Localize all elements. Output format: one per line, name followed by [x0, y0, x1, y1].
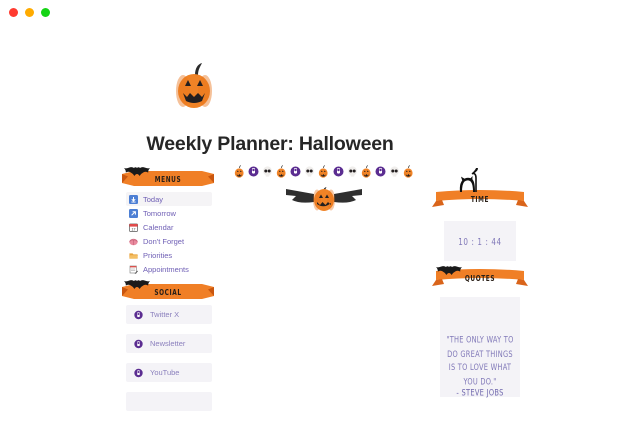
folder-icon: [129, 251, 138, 260]
social-item-youtube[interactable]: YouTube: [126, 363, 212, 382]
menus-list: Today Tomorrow 17 Calendar Don't For: [126, 192, 212, 276]
download-box-icon: [129, 195, 138, 204]
social-item-label: Twitter X: [150, 310, 179, 319]
menu-item-calendar[interactable]: 17 Calendar: [126, 220, 212, 234]
pumpkin-icon: [276, 165, 287, 178]
bat-icon: [124, 279, 150, 292]
ghost-icon: [134, 368, 143, 378]
time-banner: TIME: [438, 190, 522, 208]
garland-decoration: [234, 165, 414, 178]
menu-item-tomorrow[interactable]: Tomorrow: [126, 206, 212, 220]
menu-item-today[interactable]: Today: [126, 192, 212, 206]
notepad-icon: [129, 265, 138, 274]
pumpkin-icon: [403, 165, 414, 178]
menu-item-label: Don't Forget: [143, 237, 184, 246]
skull-icon: [389, 165, 400, 178]
menu-item-label: Appointments: [143, 265, 189, 274]
bat-icon: [436, 265, 462, 278]
jack-o-lantern-icon: [172, 63, 216, 109]
menu-item-dont-forget[interactable]: Don't Forget: [126, 234, 212, 248]
ghost-icon: [134, 310, 143, 320]
bat-icon: [124, 166, 150, 179]
social-item-newsletter[interactable]: Newsletter: [126, 334, 212, 353]
planner-page: Weekly Planner: Halloween: [0, 0, 640, 400]
ghost-icon: [134, 339, 143, 349]
time-card: 10 : 1 : 44: [444, 221, 516, 261]
pumpkin-icon: [361, 165, 372, 178]
social-list: Twitter X Newsletter YouTube: [126, 305, 212, 421]
page-title: Weekly Planner: Halloween: [0, 133, 540, 156]
ghost-icon: [333, 165, 344, 178]
minimize-button[interactable]: [25, 8, 34, 17]
window-controls: [9, 8, 50, 17]
quote-author: - STEVE JOBS: [446, 387, 514, 398]
social-item-label: YouTube: [150, 368, 179, 377]
ghost-icon: [290, 165, 301, 178]
maximize-button[interactable]: [41, 8, 50, 17]
black-cat-icon: [456, 168, 480, 194]
skull-icon: [347, 165, 358, 178]
skull-icon: [304, 165, 315, 178]
calendar-icon: 17: [129, 223, 138, 232]
svg-text:17: 17: [132, 227, 136, 231]
winged-pumpkin-icon: [286, 183, 362, 213]
quotes-card: "THE ONLY WAY TO DO GREAT THINGS IS TO L…: [440, 297, 520, 397]
time-value: 10 : 1 : 44: [444, 216, 516, 266]
brain-icon: [129, 237, 138, 246]
close-button[interactable]: [9, 8, 18, 17]
menu-item-label: Tomorrow: [143, 209, 176, 218]
pumpkin-icon: [234, 165, 245, 178]
social-item-partial[interactable]: [126, 392, 212, 411]
pumpkin-icon: [318, 165, 329, 178]
ghost-icon: [248, 165, 259, 178]
ghost-icon: [375, 165, 386, 178]
menu-item-label: Today: [143, 195, 163, 204]
menu-item-priorities[interactable]: Priorities: [126, 248, 212, 262]
menu-item-label: Priorities: [143, 251, 172, 260]
arrow-box-icon: [129, 209, 138, 218]
skull-icon: [262, 165, 273, 178]
menu-item-label: Calendar: [143, 223, 173, 232]
social-item-twitter-x[interactable]: Twitter X: [126, 305, 212, 324]
menu-item-appointments[interactable]: Appointments: [126, 262, 212, 276]
time-banner-label: TIME: [444, 190, 516, 208]
social-item-label: Newsletter: [150, 339, 185, 348]
quote-text: "THE ONLY WAY TO DO GREAT THINGS IS TO L…: [446, 333, 514, 388]
